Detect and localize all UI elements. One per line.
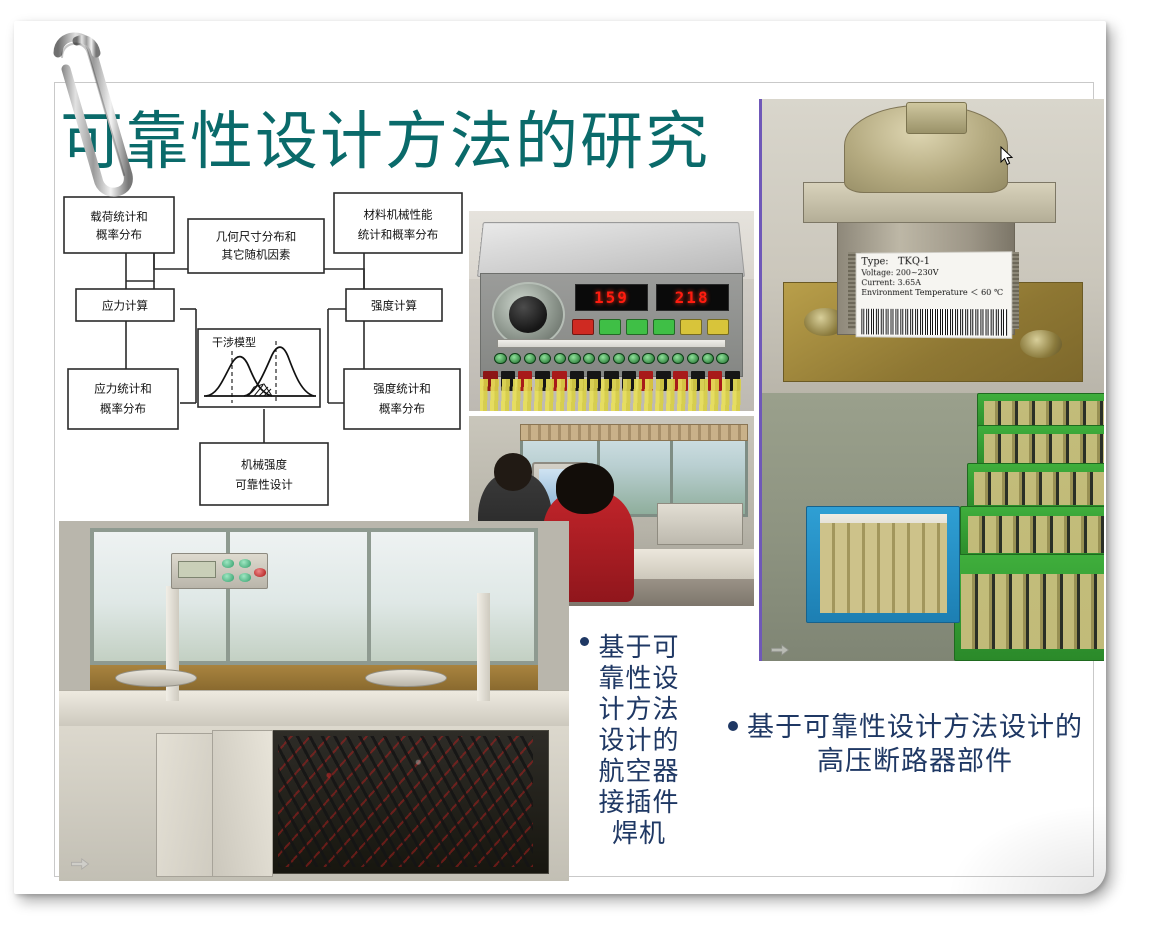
bullet-marker [580,637,589,646]
jack [583,353,595,364]
photo-welding-machine [59,521,569,881]
instrument-yellow-wires [480,379,742,411]
panel-button-red [572,319,593,335]
control-button-4[interactable] [239,573,251,582]
bullet-line: 基于可 [574,633,704,664]
lab-test-equipment [657,503,743,545]
svg-text:应力计算: 应力计算 [102,299,148,313]
bullet-line: 设计的 [574,726,704,757]
svg-text:载荷统计和: 载荷统计和 [90,210,148,224]
barcode-icon [861,310,1007,336]
green-crate [954,554,1104,661]
jack [568,353,580,364]
jack [539,353,551,364]
svg-text:概率分布: 概率分布 [96,228,142,242]
green-crate [967,463,1104,511]
control-post-right [477,593,490,701]
panel-button-green-1 [599,319,620,335]
work-bench [59,690,569,726]
svg-text:几何尺寸分布和: 几何尺寸分布和 [216,230,297,244]
jack [687,353,699,364]
label-current-value: 3.65A [898,278,921,287]
jack [672,353,684,364]
bullet-line: 焊机 [574,819,704,850]
jack [509,353,521,364]
svg-text:概率分布: 概率分布 [100,402,146,416]
next-arrow-icon[interactable] [769,644,791,656]
panel-button-yellow-1 [680,319,701,335]
jack [524,353,536,364]
jack [613,353,625,364]
device-spec-label: Type: TKQ-1 Voltage: 200~230V Current: 3… [856,252,1013,339]
rotary-knob-icon [492,282,565,347]
reliability-flowchart: 载荷统计和 概率分布 几何尺寸分布和 其它随机因素 材料机械性能 统计和概率分布… [58,191,470,521]
svg-text:机械强度: 机械强度 [241,458,287,472]
instrument-button-row [572,319,728,335]
instrument-front-panel: 159 218 [480,273,742,377]
jack [642,353,654,364]
jack [598,353,610,364]
svg-text:其它随机因素: 其它随机因素 [222,248,291,262]
hex-nut-icon [906,102,968,134]
internal-wiring [278,736,533,867]
instrument-jack-row [494,353,728,364]
led-display-right: 218 [656,284,729,311]
welder-control-panel[interactable] [171,553,268,589]
svg-text:强度统计和: 强度统计和 [373,382,431,396]
slide-sheet: 可靠性设计方法的研究 [14,21,1106,894]
svg-text:应力统计和: 应力统计和 [94,382,152,396]
mouse-cursor-icon [1000,146,1014,166]
led-value-right: 218 [675,288,710,307]
photo-tkq-device: Type: TKQ-1 Voltage: 200~230V Current: 3… [759,99,1104,394]
bullet-line: 计方法 [574,695,704,726]
control-display [178,561,216,578]
green-crate [977,425,1104,468]
jack [702,353,714,364]
led-display-left: 159 [575,284,648,311]
bullet-line: 接插件 [574,788,704,819]
rotary-table-left [115,669,197,687]
instrument-lid [477,222,745,277]
bullet-block-welder: 基于可 靠性设 计方法 设计的 航空器 接插件 焊机 [574,633,704,850]
rotary-table-right [365,669,447,687]
svg-text:材料机械性能: 材料机械性能 [364,208,433,222]
photo-instrument-panel: 159 218 [469,211,754,411]
control-button-1[interactable] [222,559,234,568]
bullet-line: 高压断路器部件 [720,745,1110,779]
panel-button-green-2 [626,319,647,335]
label-current-key: Current: [862,278,896,287]
label-voltage-key: Voltage: [862,269,894,278]
svg-text:可靠性设计: 可靠性设计 [235,478,293,492]
jack [657,353,669,364]
emergency-stop-button[interactable] [254,568,266,577]
label-type-value: TKQ-1 [898,256,930,267]
lab-window-blind [520,424,748,441]
svg-text:干涉模型: 干涉模型 [212,335,256,349]
relay-components [820,523,948,613]
workshop-window [90,528,539,665]
control-button-3[interactable] [222,573,234,582]
base-hole-right [1020,330,1062,358]
jack [716,353,728,364]
bullet-block-breaker: 基于可靠性设计方法设计的 高压断路器部件 [720,711,1110,779]
svg-text:概率分布: 概率分布 [379,402,425,416]
led-value-left: 159 [594,288,629,307]
control-button-2[interactable] [239,559,251,568]
blue-crate [806,506,960,624]
cabinet-door-right [212,730,273,878]
jack [554,353,566,364]
svg-text:强度计算: 强度计算 [371,299,417,313]
label-environment: Environment Temperature ＜ 60 ℃ [862,288,1007,298]
jack [494,353,506,364]
bullet-line: 基于可靠性设计方法设计的 [720,711,1110,745]
bullet-marker [728,721,738,731]
green-crate [960,506,1104,560]
bullet-line: 靠性设 [574,664,704,695]
bullet-line: 航空器 [574,757,704,788]
svg-text:统计和概率分布: 统计和概率分布 [358,228,439,242]
open-cabinet-interior [263,730,549,874]
panel-button-yellow-2 [707,319,728,335]
label-voltage-value: 200~230V [896,269,939,278]
label-type-key: Type: [862,257,889,268]
slide-root: 可靠性设计方法的研究 [0,0,1150,929]
page-title: 可靠性设计方法的研究 [60,103,760,181]
jack [628,353,640,364]
panel-button-green-3 [653,319,674,335]
instrument-label-strip [497,339,726,348]
photo-relay-crates [759,393,1104,661]
next-arrow-icon[interactable] [69,858,91,870]
